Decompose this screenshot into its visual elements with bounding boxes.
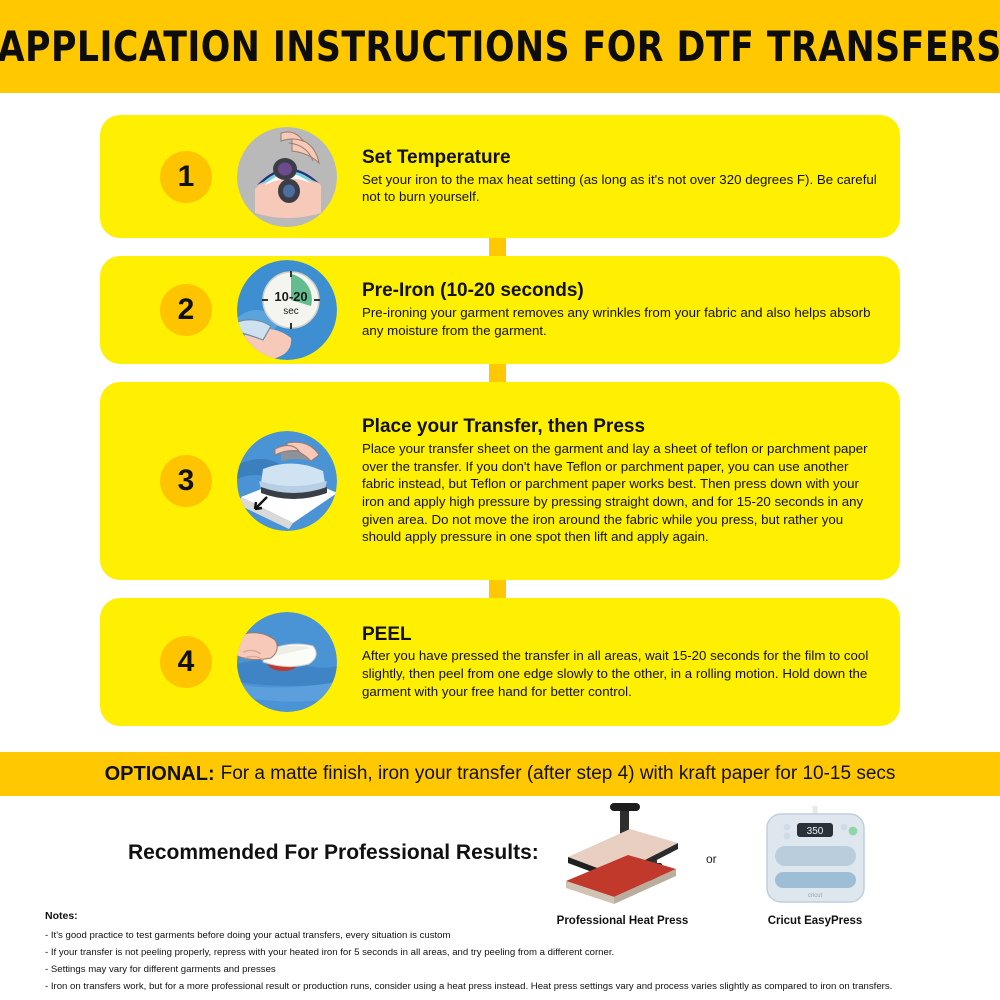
optional-text: For a matte finish, iron your transfer (… [221, 763, 896, 785]
step-text: Place your transfer sheet on the garment… [362, 440, 880, 546]
timer-dial-icon: 10-20 sec [237, 260, 337, 360]
step-title: Set Temperature [362, 147, 880, 169]
timer-unit: sec [283, 306, 299, 317]
note-item: - It's good practice to test garments be… [45, 927, 975, 944]
step-body-3: Place your Transfer, then Press Place yo… [362, 416, 880, 546]
step-number-badge: 2 [160, 284, 212, 336]
step-text: After you have pressed the transfer in a… [362, 647, 880, 700]
notes-section: Notes: - It's good practice to test garm… [45, 910, 975, 995]
step-number-badge: 1 [160, 151, 212, 203]
header-banner: APPLICATION INSTRUCTIONS FOR DTF TRANSFE… [0, 0, 1000, 93]
step-body-1: Set Temperature Set your iron to the max… [362, 147, 880, 206]
step-text: Pre-ironing your garment removes any wri… [362, 304, 880, 339]
step-title: Pre-Iron (10-20 seconds) [362, 280, 880, 302]
optional-label: OPTIONAL: [105, 763, 215, 786]
step-card-1: 1 Set Temperature [100, 115, 900, 238]
hand-peeling-film-icon [237, 612, 337, 712]
step-title: PEEL [362, 624, 880, 646]
cricut-logo: cricut [808, 893, 823, 899]
timer-value: 10-20 [274, 289, 307, 304]
step-card-2: 2 10-20 sec Pre-Iron (1 [100, 256, 900, 364]
optional-banner: OPTIONAL: For a matte finish, iron your … [0, 752, 1000, 796]
infographic-page: APPLICATION INSTRUCTIONS FOR DTF TRANSFE… [0, 0, 1000, 1000]
easypress-display: 350 [807, 826, 824, 837]
step-title: Place your Transfer, then Press [362, 416, 880, 438]
note-item: - Settings may vary for different garmen… [45, 961, 975, 978]
hand-adjusting-iron-dial-icon [237, 127, 337, 227]
step-card-4: 4 PEEL After you have pressed the transf… [100, 598, 900, 726]
step-card-3: 3 Place your Transfer, then Pres [100, 382, 900, 580]
notes-heading: Notes: [45, 910, 975, 922]
step-body-4: PEEL After you have pressed the transfer… [362, 624, 880, 701]
cricut-easypress-icon: 350 cricut [763, 806, 868, 906]
card-connector-3-4 [489, 580, 506, 598]
page-title: APPLICATION INSTRUCTIONS FOR DTF TRANSFE… [0, 22, 1000, 71]
note-item: - Iron on transfers work, but for a more… [45, 978, 975, 995]
step-number-badge: 4 [160, 636, 212, 688]
heat-press-icon [558, 803, 698, 908]
note-item: - If your transfer is not peeling proper… [45, 944, 975, 961]
or-separator-label: or [706, 852, 717, 866]
recommended-title: Recommended For Professional Results: [128, 841, 539, 865]
steps-section: 1 Set Temperature [0, 93, 1000, 748]
step-body-2: Pre-Iron (10-20 seconds) Pre-ironing you… [362, 280, 880, 339]
card-connector-2-3 [489, 364, 506, 382]
step-text: Set your iron to the max heat setting (a… [362, 171, 880, 206]
card-connector-1-2 [489, 238, 506, 256]
iron-pressing-transfer-icon [237, 431, 337, 531]
step-number-badge: 3 [160, 455, 212, 507]
